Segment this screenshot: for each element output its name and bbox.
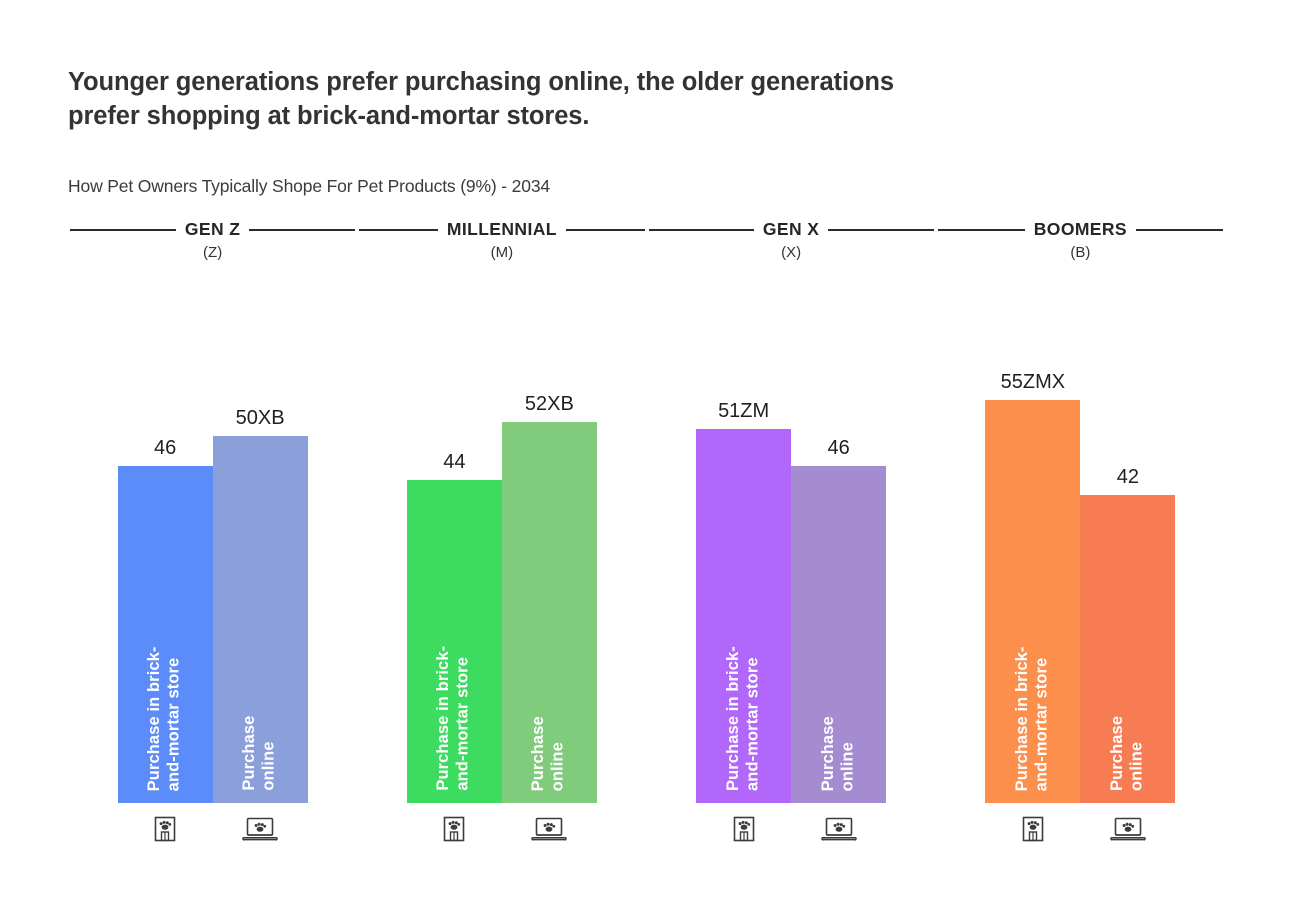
laptop-paw-icon [213,813,308,843]
bar-series-label: Purchase in brick- and-mortar store [434,480,473,791]
rule-right [566,229,645,231]
bar-rect[interactable]: Purchase online [213,436,308,803]
bar-series-label: Purchase online [240,436,279,791]
icon-row [68,808,357,848]
bar-rect[interactable]: Purchase in brick- and-mortar store [407,480,502,803]
group-code-label: (M) [491,244,514,261]
bar-series-label: Purchase online [819,466,858,791]
bar-item-store[interactable]: 51ZM Purchase in brick- and-mortar store [696,429,791,803]
bar-value-label: 50XB [213,407,308,436]
bar-value-label: 42 [1080,466,1175,495]
rule-right [249,229,355,231]
group-code-label: (Z) [203,244,222,261]
bar-value-label: 52XB [502,393,597,422]
icon-row [647,808,936,848]
rule-right [828,229,933,231]
group-header-millennial: MILLENNIAL (M) [357,219,646,275]
laptop-paw-icon [791,813,886,843]
bar-series-label: Purchase online [1108,495,1147,791]
bar-value-label: 44 [407,451,502,480]
group-code-label: (B) [1070,244,1090,261]
bar-pair: 46 Purchase in brick- and-mortar store 5… [68,363,357,803]
bar-value-label: 55ZMX [985,371,1080,400]
rule-left [938,229,1025,231]
group-code-label: (X) [781,244,801,261]
bar-value-label: 51ZM [696,400,791,429]
bar-pair: 55ZMX Purchase in brick- and-mortar stor… [936,363,1225,803]
bar-item-online[interactable]: 42 Purchase online [1080,495,1175,803]
laptop-paw-icon [1080,813,1175,843]
page-subtitle: How Pet Owners Typically Shope For Pet P… [68,176,550,197]
icon-row [936,808,1225,848]
store-paw-icon [696,813,791,843]
group-name-label: MILLENNIAL [447,219,557,240]
icon-row [357,808,646,848]
page-header: Younger generations prefer purchasing on… [68,66,1228,134]
group-name-label: GEN Z [185,219,240,240]
bar-rect[interactable]: Purchase online [1080,495,1175,803]
rule-left [359,229,438,231]
bar-pair: 44 Purchase in brick- and-mortar store 5… [357,363,646,803]
laptop-paw-icon [502,813,597,843]
group-header-boomers: BOOMERS (B) [936,219,1225,275]
bar-group-gen-x: 51ZM Purchase in brick- and-mortar store… [647,300,936,870]
rule-right [1136,229,1223,231]
bar-series-label: Purchase in brick- and-mortar store [1013,400,1052,791]
bar-item-store[interactable]: 44 Purchase in brick- and-mortar store [407,480,502,803]
rule-left [70,229,176,231]
group-header-gen-x: GEN X (X) [647,219,936,275]
bar-item-online[interactable]: 52XB Purchase online [502,422,597,803]
bar-series-label: Purchase online [529,422,568,791]
bar-rect[interactable]: Purchase in brick- and-mortar store [118,466,213,803]
page-title: Younger generations prefer purchasing on… [68,66,1228,134]
bar-chart-plot: 46 Purchase in brick- and-mortar store 5… [68,300,1225,870]
bar-group-gen-z: 46 Purchase in brick- and-mortar store 5… [68,300,357,870]
bar-item-store[interactable]: 46 Purchase in brick- and-mortar store [118,466,213,803]
bar-value-label: 46 [791,437,886,466]
group-header-gen-z: GEN Z (Z) [68,219,357,275]
bar-rect[interactable]: Purchase online [502,422,597,803]
bar-pair: 51ZM Purchase in brick- and-mortar store… [647,363,936,803]
bar-group-millennial: 44 Purchase in brick- and-mortar store 5… [357,300,646,870]
bar-item-store[interactable]: 55ZMX Purchase in brick- and-mortar stor… [985,400,1080,803]
group-name-label: GEN X [763,219,819,240]
bar-group-boomers: 55ZMX Purchase in brick- and-mortar stor… [936,300,1225,870]
group-header-band: GEN Z (Z) MILLENNIAL (M) GEN X (X) BOOME… [68,219,1225,275]
store-paw-icon [407,813,502,843]
bar-series-label: Purchase in brick- and-mortar store [145,466,184,791]
bar-series-label: Purchase in brick- and-mortar store [724,429,763,791]
rule-left [649,229,754,231]
group-name-label: BOOMERS [1034,219,1127,240]
bar-item-online[interactable]: 46 Purchase online [791,466,886,803]
bar-item-online[interactable]: 50XB Purchase online [213,436,308,803]
bar-rect[interactable]: Purchase in brick- and-mortar store [696,429,791,803]
store-paw-icon [118,813,213,843]
bar-rect[interactable]: Purchase online [791,466,886,803]
bar-value-label: 46 [118,437,213,466]
bar-rect[interactable]: Purchase in brick- and-mortar store [985,400,1080,803]
store-paw-icon [985,813,1080,843]
